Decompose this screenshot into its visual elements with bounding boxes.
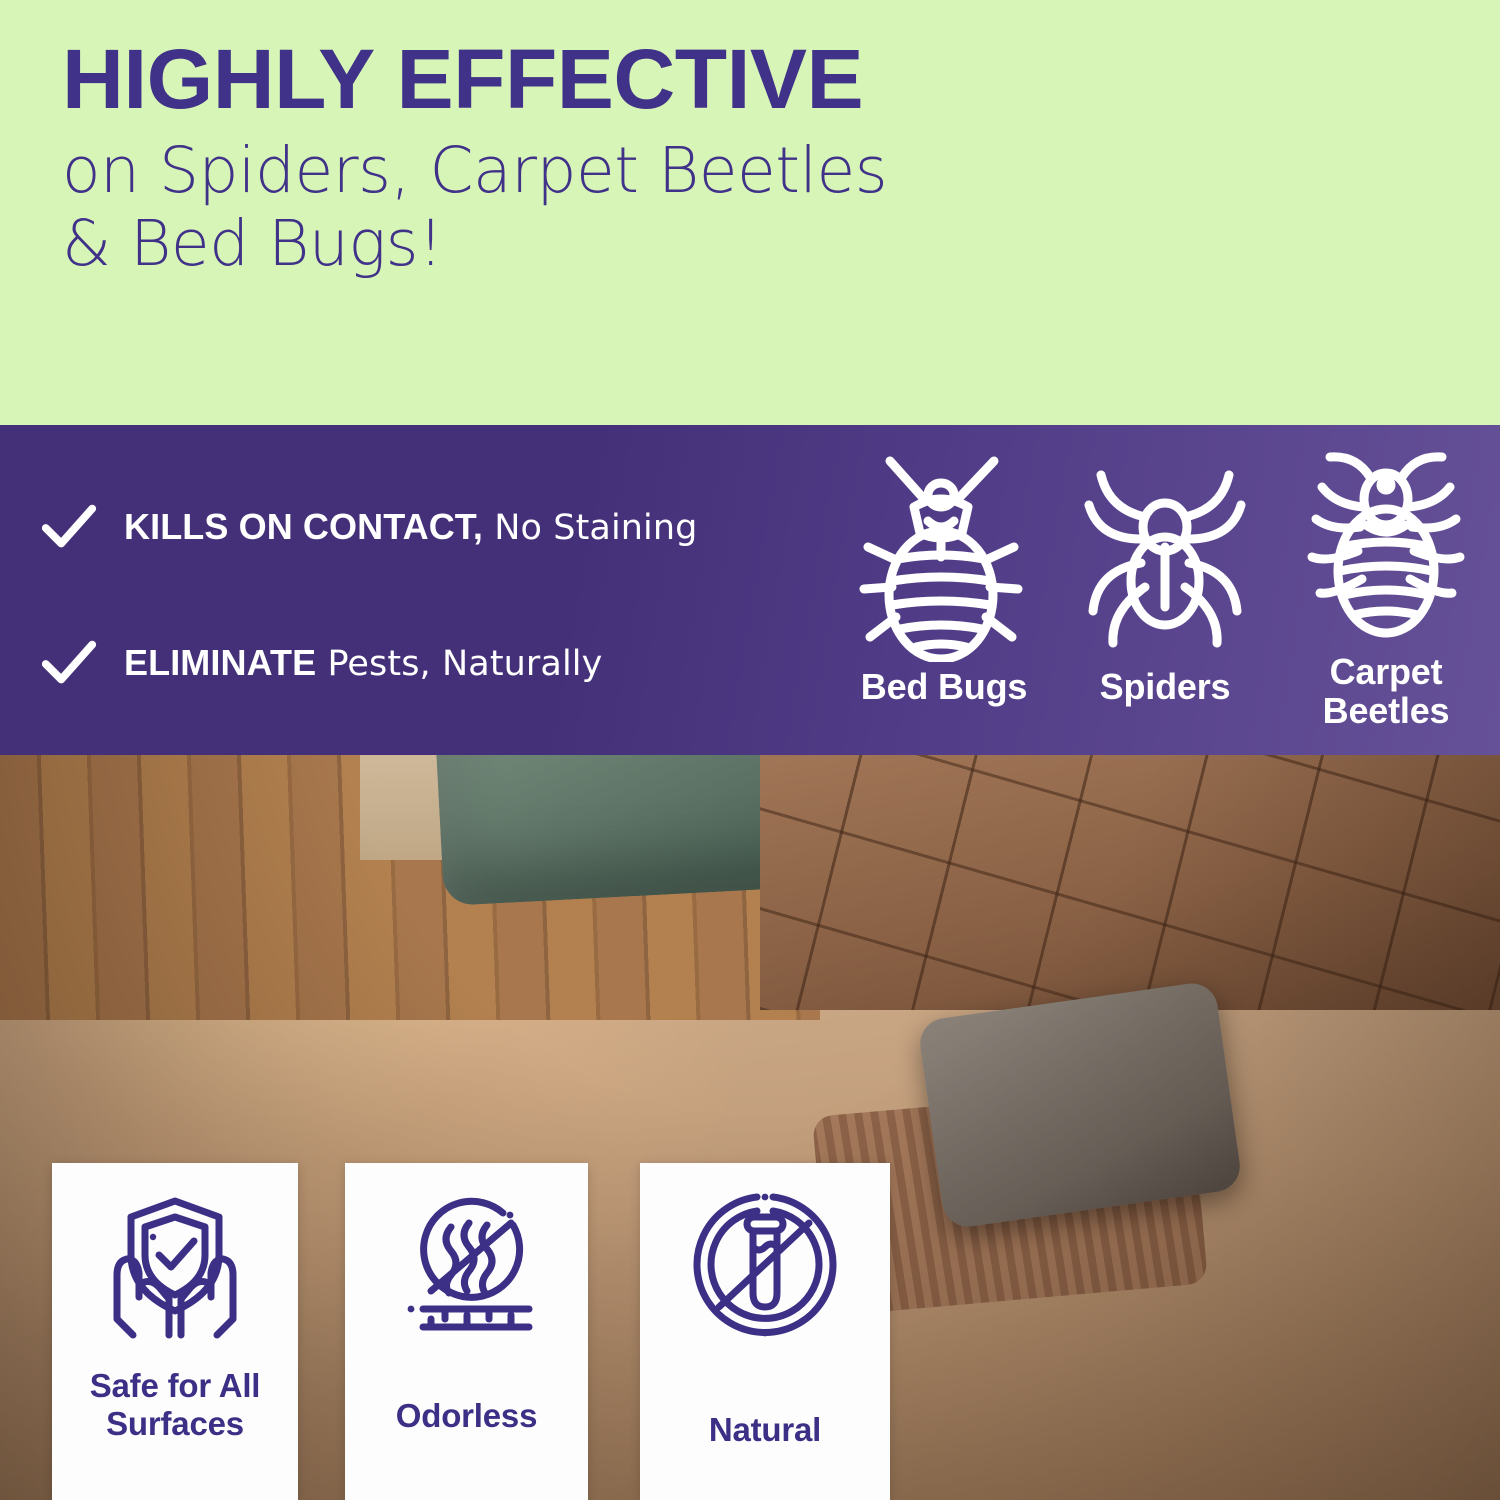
feature-card-safe-for-all-surfaces: Safe for All Surfaces bbox=[52, 1163, 298, 1500]
feature-label: Odorless bbox=[396, 1397, 537, 1435]
promo-image: HIGHLY EFFECTIVE on Spiders, Carpet Beet… bbox=[0, 0, 1500, 1500]
icon-container bbox=[97, 1193, 253, 1339]
shield-in-hands-icon bbox=[97, 1193, 253, 1339]
feature-label: Natural bbox=[709, 1411, 821, 1449]
no-odor-mattress-icon bbox=[393, 1197, 541, 1335]
icon-container bbox=[393, 1197, 541, 1335]
feature-card-row: Safe for All Surfaces bbox=[0, 0, 1500, 1500]
no-chemicals-test-tube-icon bbox=[689, 1189, 841, 1341]
icon-container bbox=[689, 1189, 841, 1341]
feature-card-odorless: Odorless bbox=[345, 1163, 588, 1500]
feature-label: Safe for All Surfaces bbox=[52, 1367, 298, 1444]
feature-card-natural: Natural bbox=[640, 1163, 890, 1500]
